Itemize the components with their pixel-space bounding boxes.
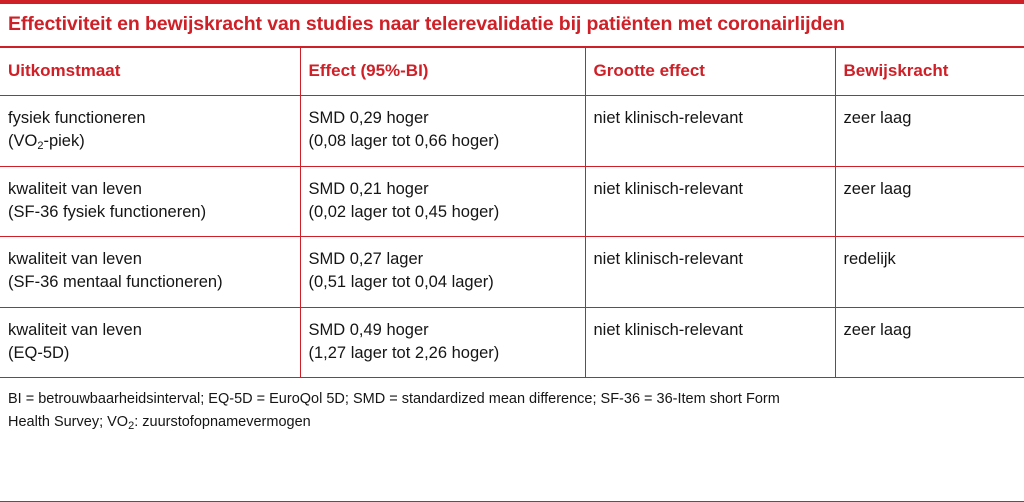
cell-effect: SMD 0,49 hoger (1,27 lager tot 2,26 hoge… [300, 307, 585, 378]
footnote-line-2: Health Survey; VO2: zuurstofopnamevermog… [8, 411, 1016, 433]
outcome-line-2-pre: (SF-36 mentaal functioneren) [8, 273, 223, 291]
outcome-line-2-pre: (VO [8, 132, 37, 150]
effect-line-2: (0,08 lager tot 0,66 hoger) [309, 130, 577, 153]
cell-evidence: zeer laag [835, 166, 1024, 237]
footnote-line-2-pre: Health Survey; VO [8, 414, 128, 430]
outcome-line-2-sub: 2 [37, 140, 43, 152]
outcome-line-2-post: -piek) [43, 132, 84, 150]
effect-line-1: SMD 0,49 hoger [309, 319, 577, 342]
outcome-line-2: (SF-36 fysiek functioneren) [8, 201, 292, 224]
effect-line-1: SMD 0,29 hoger [309, 107, 577, 130]
column-header-uitkomstmaat: Uitkomstmaat [0, 48, 300, 96]
cell-evidence: zeer laag [835, 307, 1024, 378]
table-row: kwaliteit van leven (SF-36 mentaal funct… [0, 237, 1024, 308]
outcome-line-2-pre: (SF-36 fysiek functioneren) [8, 203, 206, 221]
outcome-line-2: (SF-36 mentaal functioneren) [8, 271, 292, 294]
outcome-line-2-pre: (EQ-5D) [8, 344, 69, 362]
header-row: Uitkomstmaat Effect (95%-BI) Grootte eff… [0, 48, 1024, 96]
table-row: kwaliteit van leven (EQ-5D) SMD 0,49 hog… [0, 307, 1024, 378]
cell-effect: SMD 0,27 lager (0,51 lager tot 0,04 lage… [300, 237, 585, 308]
cell-effect-size: niet klinisch-relevant [585, 96, 835, 167]
effect-line-1: SMD 0,21 hoger [309, 178, 577, 201]
outcome-line-1: kwaliteit van leven [8, 319, 292, 342]
effect-line-2: (1,27 lager tot 2,26 hoger) [309, 342, 577, 365]
evidence-table: Uitkomstmaat Effect (95%-BI) Grootte eff… [0, 48, 1024, 379]
outcome-line-1: kwaliteit van leven [8, 248, 292, 271]
cell-effect-size: niet klinisch-relevant [585, 166, 835, 237]
effect-line-1: SMD 0,27 lager [309, 248, 577, 271]
outcome-line-2: (VO2-piek) [8, 130, 292, 153]
table-header: Uitkomstmaat Effect (95%-BI) Grootte eff… [0, 48, 1024, 96]
cell-outcome: kwaliteit van leven (EQ-5D) [0, 307, 300, 378]
table-title: Effectiviteit en bewijskracht van studie… [0, 4, 1024, 46]
footnote-line-2-sub: 2 [128, 420, 134, 432]
effect-line-2: (0,51 lager tot 0,04 lager) [309, 271, 577, 294]
table-row: fysiek functioneren (VO2-piek) SMD 0,29 … [0, 96, 1024, 167]
cell-outcome: kwaliteit van leven (SF-36 fysiek functi… [0, 166, 300, 237]
cell-effect-size: niet klinisch-relevant [585, 307, 835, 378]
outcome-line-1: kwaliteit van leven [8, 178, 292, 201]
column-header-bewijskracht: Bewijskracht [835, 48, 1024, 96]
cell-effect-size: niet klinisch-relevant [585, 237, 835, 308]
footnote-line-2-post: : zuurstofopnamevermogen [134, 414, 311, 430]
table-row: kwaliteit van leven (SF-36 fysiek functi… [0, 166, 1024, 237]
cell-evidence: zeer laag [835, 96, 1024, 167]
cell-effect: SMD 0,21 hoger (0,02 lager tot 0,45 hoge… [300, 166, 585, 237]
evidence-table-figure: Effectiviteit en bewijskracht van studie… [0, 0, 1024, 502]
column-header-effect: Effect (95%-BI) [300, 48, 585, 96]
cell-outcome: kwaliteit van leven (SF-36 mentaal funct… [0, 237, 300, 308]
cell-outcome: fysiek functioneren (VO2-piek) [0, 96, 300, 167]
table-footnote: BI = betrouwbaarheidsinterval; EQ-5D = E… [0, 378, 1024, 441]
cell-effect: SMD 0,29 hoger (0,08 lager tot 0,66 hoge… [300, 96, 585, 167]
outcome-line-1: fysiek functioneren [8, 107, 292, 130]
column-header-grootte-effect: Grootte effect [585, 48, 835, 96]
cell-evidence: redelijk [835, 237, 1024, 308]
outcome-line-2: (EQ-5D) [8, 342, 292, 365]
footnote-line-1: BI = betrouwbaarheidsinterval; EQ-5D = E… [8, 388, 1016, 410]
effect-line-2: (0,02 lager tot 0,45 hoger) [309, 201, 577, 224]
table-body: fysiek functioneren (VO2-piek) SMD 0,29 … [0, 96, 1024, 378]
